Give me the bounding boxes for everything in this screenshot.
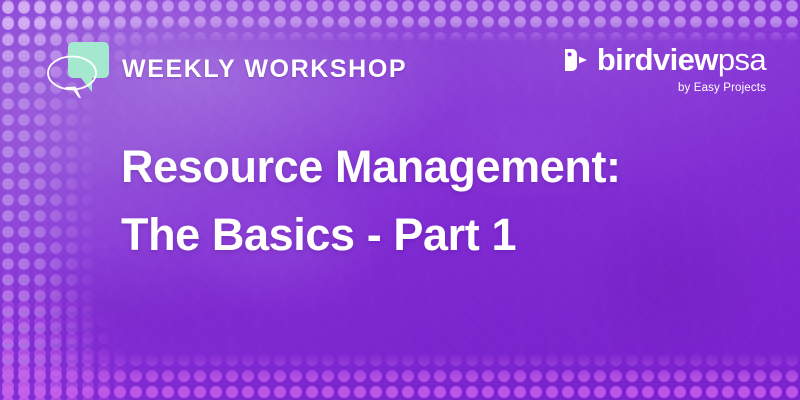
- workshop-banner: WEEKLY WORKSHOP birdviewpsa by Easy Proj…: [0, 0, 800, 400]
- eyebrow-label: WEEKLY WORKSHOP: [122, 57, 407, 82]
- banner-content: WEEKLY WORKSHOP birdviewpsa by Easy Proj…: [0, 0, 800, 400]
- title-line-1: Resource Management:: [121, 133, 621, 201]
- brand-tagline: by Easy Projects: [562, 82, 766, 94]
- speech-bubbles-icon: [46, 40, 112, 98]
- brand-wordmark: birdviewpsa: [597, 44, 766, 75]
- brand-name-light: psa: [718, 42, 766, 77]
- birdview-bird-mark-icon: [562, 46, 588, 74]
- eyebrow-group: WEEKLY WORKSHOP: [46, 38, 407, 100]
- brand-lockup: birdviewpsa by Easy Projects: [562, 44, 766, 94]
- banner-header: WEEKLY WORKSHOP birdviewpsa by Easy Proj…: [0, 38, 800, 100]
- page-title: Resource Management: The Basics - Part 1: [121, 133, 621, 269]
- brand-row: birdviewpsa: [562, 44, 766, 75]
- title-line-2: The Basics - Part 1: [121, 201, 621, 269]
- brand-name-bold: birdview: [597, 42, 718, 77]
